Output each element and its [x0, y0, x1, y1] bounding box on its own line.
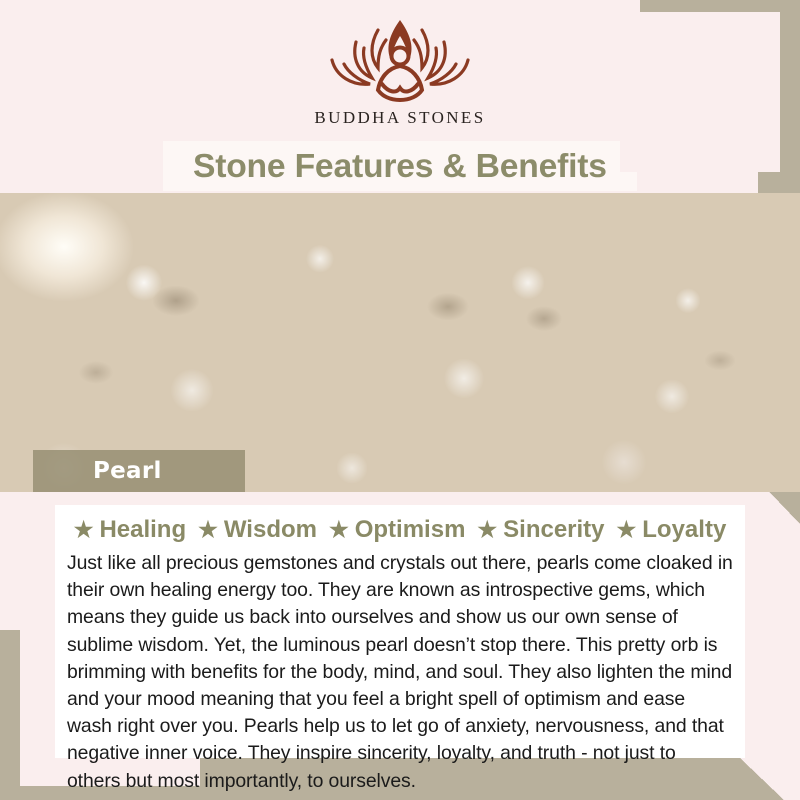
infographic-page: BUDDHA STONES Stone Features & Benefits …: [0, 0, 800, 800]
star-icon: ★: [329, 519, 349, 541]
page-title: Stone Features & Benefits: [193, 147, 607, 185]
benefit-item: ★Loyalty: [617, 516, 727, 544]
stone-name-band: Pearl: [33, 450, 245, 492]
benefit-label: Sincerity: [503, 516, 604, 544]
stone-name: Pearl: [93, 458, 162, 484]
photo-shadow-layer: [0, 193, 800, 492]
frame-top-right-inner: [620, 12, 780, 172]
lotus-meditation-icon: [312, 14, 488, 106]
content-card: ★Healing★Wisdom★Optimism★Sincerity★Loyal…: [55, 505, 745, 758]
benefit-item: ★Healing: [74, 516, 186, 544]
brand-name: BUDDHA STONES: [314, 108, 485, 128]
star-icon: ★: [198, 519, 218, 541]
star-icon: ★: [477, 519, 497, 541]
benefits-row: ★Healing★Wisdom★Optimism★Sincerity★Loyal…: [55, 512, 745, 548]
benefit-item: ★Optimism: [329, 516, 465, 544]
benefit-label: Loyalty: [642, 516, 726, 544]
benefit-item: ★Wisdom: [198, 516, 317, 544]
benefit-label: Wisdom: [224, 516, 317, 544]
stone-description: Just like all precious gemstones and cry…: [67, 550, 733, 795]
benefit-label: Optimism: [355, 516, 466, 544]
page-title-banner: Stone Features & Benefits: [163, 141, 637, 191]
star-icon: ★: [74, 519, 94, 541]
star-icon: ★: [617, 519, 637, 541]
stone-photo: [0, 193, 800, 492]
frame-bottom-tip: [740, 758, 784, 800]
benefit-item: ★Sincerity: [477, 516, 604, 544]
benefit-label: Healing: [99, 516, 186, 544]
